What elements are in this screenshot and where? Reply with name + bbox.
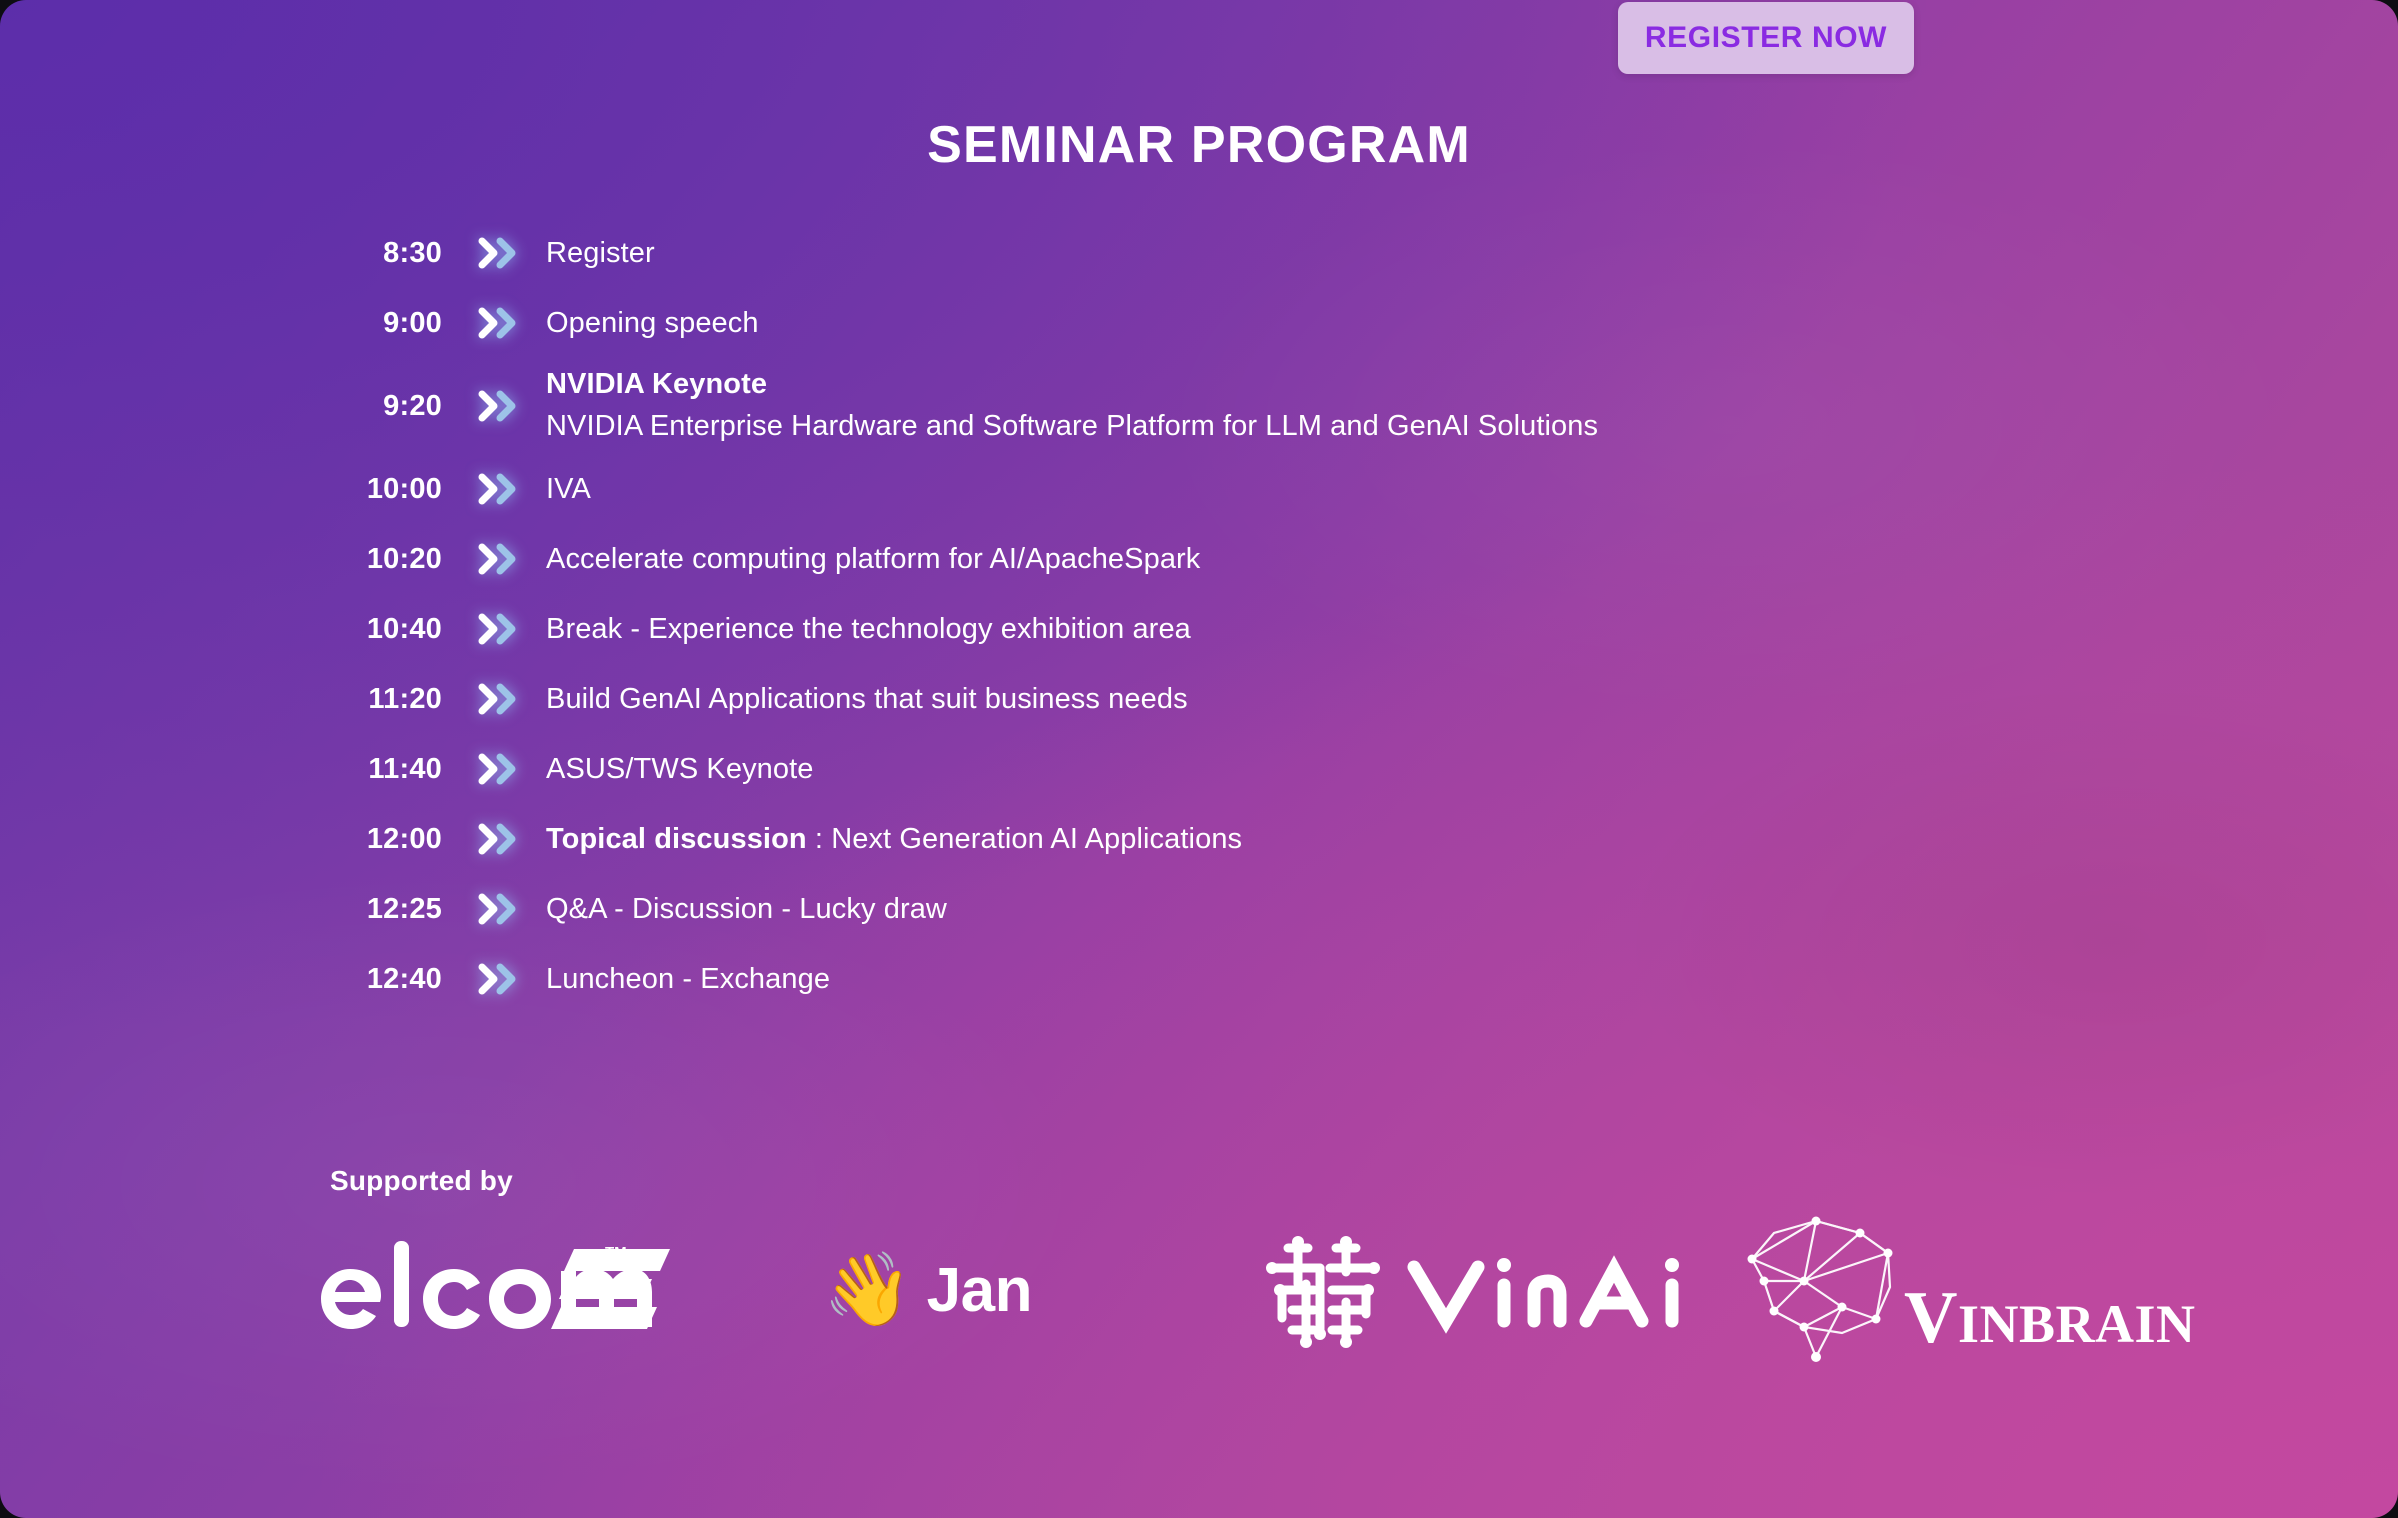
agenda-body: Q&A - Discussion - Lucky draw bbox=[546, 891, 2030, 927]
double-chevron-right-icon bbox=[442, 236, 546, 270]
seminar-program-slide: REGISTER NOW SEMINAR PROGRAM 8:30Registe… bbox=[0, 0, 2398, 1518]
agenda-title: Opening speech bbox=[546, 305, 2030, 341]
agenda-time: 9:20 bbox=[330, 390, 442, 423]
sponsor-logo-elcom: TM bbox=[300, 1215, 693, 1365]
agenda-body: IVA bbox=[546, 471, 2030, 507]
agenda-row: 12:40Luncheon - Exchange bbox=[330, 944, 2030, 1014]
agenda-time: 12:40 bbox=[330, 963, 442, 996]
agenda-title-rest: : Next Generation AI Applications bbox=[807, 823, 1242, 855]
agenda-title: IVA bbox=[546, 471, 2030, 507]
agenda-title: Luncheon - Exchange bbox=[546, 961, 2030, 997]
agenda-time: 10:20 bbox=[330, 543, 442, 576]
agenda-row: 10:20Accelerate computing platform for A… bbox=[330, 524, 2030, 594]
agenda-body: Break - Experience the technology exhibi… bbox=[546, 611, 2030, 647]
agenda-title: NVIDIA Keynote bbox=[546, 366, 2030, 402]
double-chevron-right-icon bbox=[442, 542, 546, 576]
sponsor-logo-vinbrain: VINBRAIN bbox=[1700, 1215, 2180, 1365]
agenda-row: 9:20NVIDIA KeynoteNVIDIA Enterprise Hard… bbox=[330, 358, 2030, 454]
brain-network-icon bbox=[1730, 1215, 1930, 1365]
double-chevron-right-icon bbox=[442, 612, 546, 646]
agenda-subtitle: NVIDIA Enterprise Hardware and Software … bbox=[546, 407, 2030, 445]
agenda-time: 8:30 bbox=[330, 237, 442, 270]
agenda-time: 10:40 bbox=[330, 613, 442, 646]
agenda-body: ASUS/TWS Keynote bbox=[546, 751, 2030, 787]
double-chevron-right-icon bbox=[442, 822, 546, 856]
double-chevron-right-icon bbox=[442, 962, 546, 996]
agenda-time: 11:20 bbox=[330, 683, 442, 716]
agenda-time: 12:00 bbox=[330, 823, 442, 856]
double-chevron-right-icon bbox=[442, 682, 546, 716]
sponsor-logo-vinai bbox=[1212, 1215, 1700, 1365]
agenda-row: 8:30Register bbox=[330, 218, 2030, 288]
sponsor-logo-jan: 👋 Jan bbox=[693, 1215, 1212, 1365]
agenda-title: Register bbox=[546, 235, 2030, 271]
agenda-body: Opening speech bbox=[546, 305, 2030, 341]
supported-by-label: Supported by bbox=[330, 1165, 513, 1197]
agenda-body: Luncheon - Exchange bbox=[546, 961, 2030, 997]
agenda-time: 12:25 bbox=[330, 893, 442, 926]
agenda-body: Topical discussion : Next Generation AI … bbox=[546, 821, 2030, 857]
agenda-row: 11:20Build GenAI Applications that suit … bbox=[330, 664, 2030, 734]
vinai-network-icon bbox=[1262, 1232, 1384, 1348]
page-title: SEMINAR PROGRAM bbox=[0, 115, 2398, 175]
agenda-row: 10:00IVA bbox=[330, 454, 2030, 524]
agenda-title: Break - Experience the technology exhibi… bbox=[546, 611, 2030, 647]
agenda-body: NVIDIA KeynoteNVIDIA Enterprise Hardware… bbox=[546, 366, 2030, 446]
agenda-body: Register bbox=[546, 235, 2030, 271]
agenda-row: 12:25Q&A - Discussion - Lucky draw bbox=[330, 874, 2030, 944]
agenda-title: Accelerate computing platform for AI/Apa… bbox=[546, 541, 2030, 577]
agenda-title: Topical discussion : Next Generation AI … bbox=[546, 821, 2030, 857]
agenda-time: 10:00 bbox=[330, 473, 442, 506]
double-chevron-right-icon bbox=[442, 389, 546, 423]
agenda-time: 9:00 bbox=[330, 307, 442, 340]
waving-hand-icon: 👋 bbox=[823, 1254, 913, 1326]
agenda-time: 11:40 bbox=[330, 753, 442, 786]
agenda-row: 11:40ASUS/TWS Keynote bbox=[330, 734, 2030, 804]
agenda-title: Build GenAI Applications that suit busin… bbox=[546, 681, 2030, 717]
double-chevron-right-icon bbox=[442, 472, 546, 506]
agenda-title: Q&A - Discussion - Lucky draw bbox=[546, 891, 2030, 927]
agenda-title-lead: Topical discussion bbox=[546, 823, 807, 855]
double-chevron-right-icon bbox=[442, 892, 546, 926]
agenda-row: 10:40Break - Experience the technology e… bbox=[330, 594, 2030, 664]
agenda-row: 12:00Topical discussion : Next Generatio… bbox=[330, 804, 2030, 874]
double-chevron-right-icon bbox=[442, 306, 546, 340]
double-chevron-right-icon bbox=[442, 752, 546, 786]
jan-wordmark: Jan bbox=[927, 1255, 1032, 1326]
agenda-body: Accelerate computing platform for AI/Apa… bbox=[546, 541, 2030, 577]
agenda-row: 9:00Opening speech bbox=[330, 288, 2030, 358]
agenda-list: 8:30Register9:00Opening speech9:20NVIDIA… bbox=[330, 218, 2030, 1014]
sponsor-logo-strip: TM 👋 Jan bbox=[300, 1215, 2180, 1365]
vinbrain-wordmark: VINBRAIN bbox=[1904, 1276, 2196, 1361]
register-now-button[interactable]: REGISTER NOW bbox=[1618, 2, 1914, 74]
agenda-title: ASUS/TWS Keynote bbox=[546, 751, 2030, 787]
agenda-body: Build GenAI Applications that suit busin… bbox=[546, 681, 2030, 717]
